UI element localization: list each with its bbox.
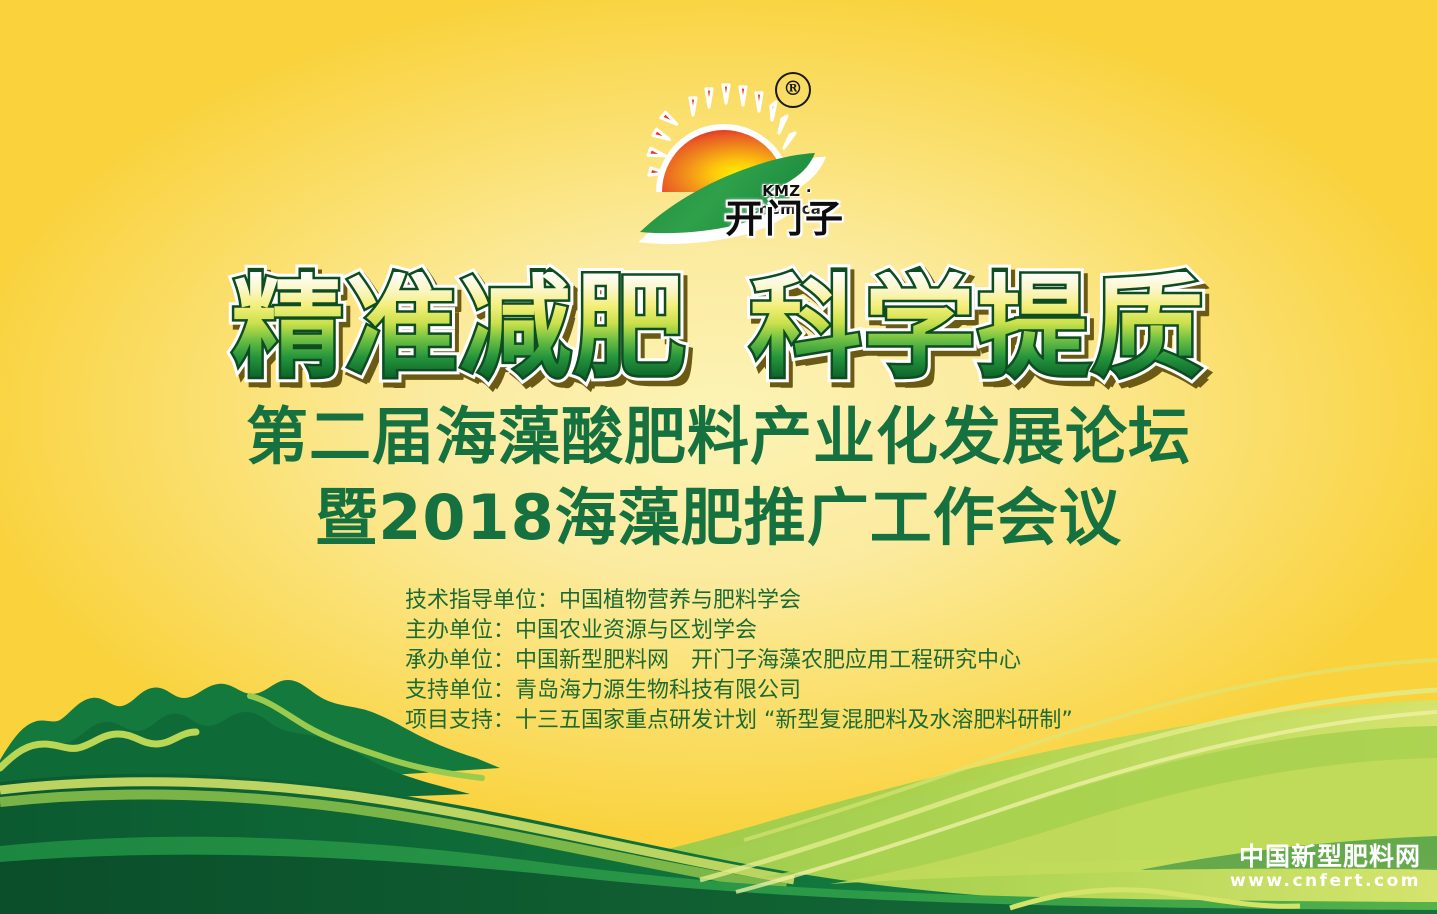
info-line-technical-guidance: 技术指导单位：中国植物营养与肥料学会	[405, 586, 1205, 616]
headline-gradient-layer: 精准减肥科学提质	[0, 272, 1437, 384]
info-line-host: 主办单位：中国农业资源与区划学会	[405, 616, 1205, 646]
info-line-project-support: 项目支持：十三五国家重点研发计划 “新型复混肥料及水溶肥料研制”	[405, 706, 1205, 736]
registered-trademark-icon: ®	[775, 72, 811, 108]
watermark-url: www.cnfert.com	[1230, 871, 1421, 892]
info-line-organizer: 承办单位：中国新型肥料网 开门子海藻农肥应用工程研究中心	[405, 646, 1205, 676]
watermark-site-name: 中国新型肥料网	[1230, 842, 1421, 871]
logo-brand-cn: 开门子	[722, 198, 848, 240]
site-watermark: 中国新型肥料网 www.cnfert.com	[1230, 842, 1421, 892]
poster-canvas: ® KMZ · Chemical 开门子 精准减肥科学提质 精准减肥科学提质 精…	[0, 0, 1437, 914]
subtitle-line-1: 第二届海藻酸肥料产业化发展论坛	[0, 406, 1437, 468]
info-line-supporter: 支持单位：青岛海力源生物科技有限公司	[405, 676, 1205, 706]
organizer-info-block: 技术指导单位：中国植物营养与肥料学会 主办单位：中国农业资源与区划学会 承办单位…	[405, 586, 1205, 736]
subtitle-line-2: 暨2018海藻肥推广工作会议	[0, 487, 1437, 549]
